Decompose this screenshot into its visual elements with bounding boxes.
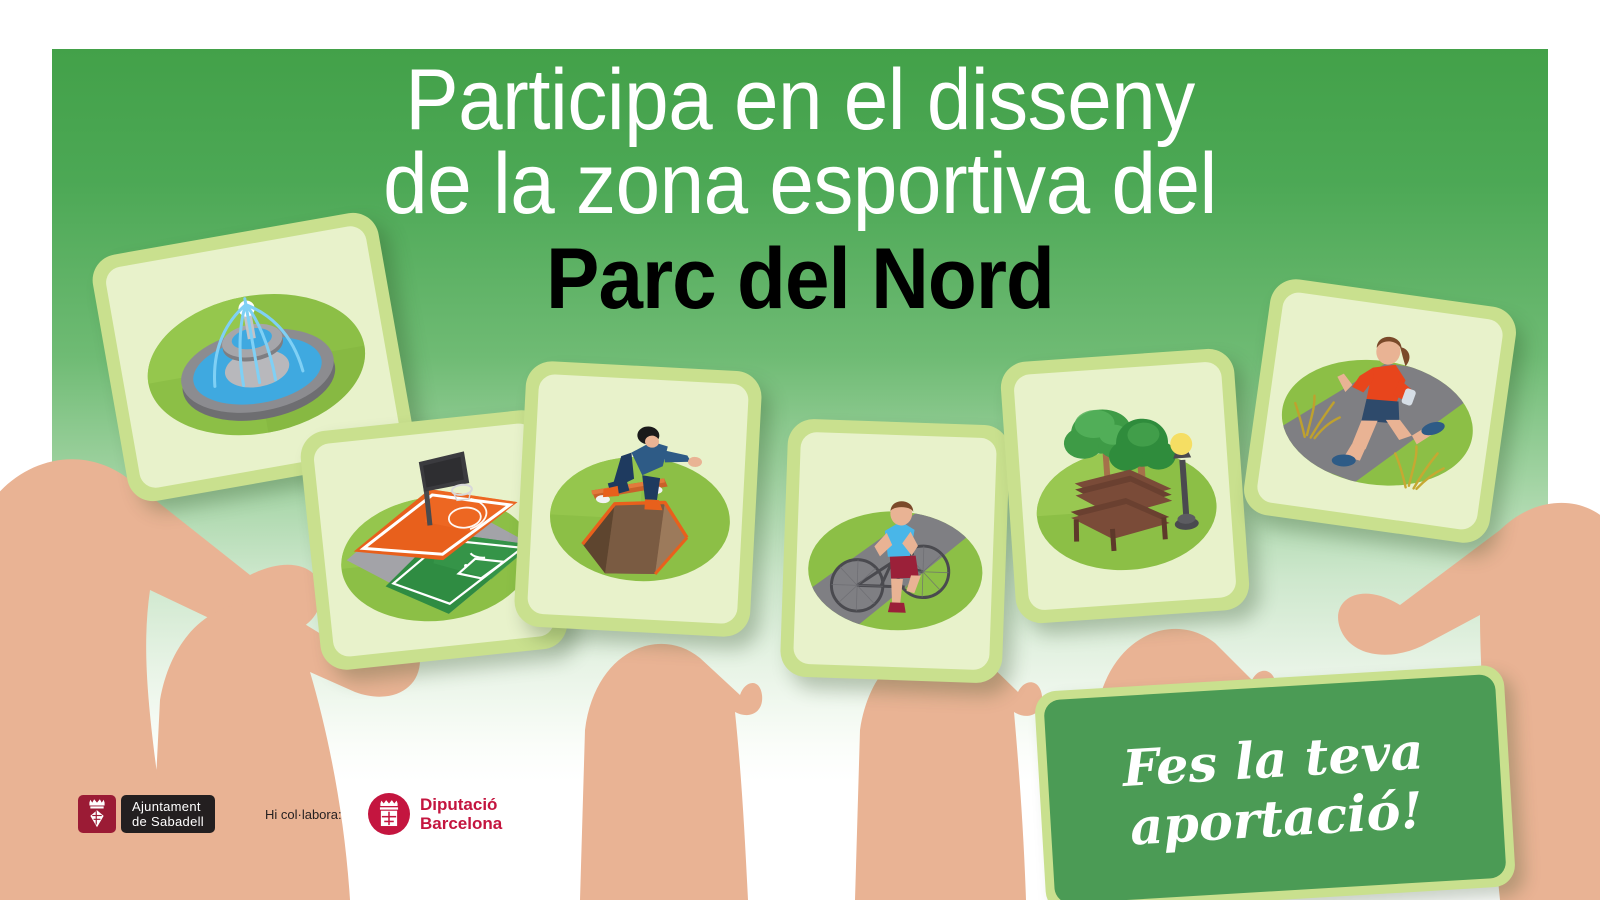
banner-canvas: Participa en el disseny de la zona espor… xyxy=(0,0,1600,900)
skateboard-ramp-icon xyxy=(527,374,749,625)
diputacio-name: Diputació Barcelona xyxy=(420,795,502,833)
card-bench-park-face xyxy=(1013,361,1237,611)
logo-ajuntament-sabadell[interactable]: Ajuntament de Sabadell xyxy=(78,795,215,833)
sabadell-line-1: Ajuntament xyxy=(132,799,204,814)
card-skate-ramp-face xyxy=(527,374,749,625)
diputacio-crest-icon xyxy=(368,793,410,835)
logo-diputacio-barcelona[interactable]: Diputació Barcelona xyxy=(368,792,502,836)
runner-icon xyxy=(1255,291,1504,532)
sabadell-line-2: de Sabadell xyxy=(132,814,204,829)
cta-callout[interactable]: Fes la teva aportació! xyxy=(1034,664,1516,900)
sabadell-name-box: Ajuntament de Sabadell xyxy=(121,795,215,833)
cyclist-icon xyxy=(793,432,997,671)
hand-3 xyxy=(580,644,762,900)
diputacio-line-1: Diputació xyxy=(420,795,502,814)
diputacio-line-2: Barcelona xyxy=(420,814,502,833)
cta-callout-inner: Fes la teva aportació! xyxy=(1043,674,1506,900)
card-bench-park[interactable] xyxy=(999,347,1251,625)
card-running[interactable] xyxy=(1241,276,1520,546)
card-cycling[interactable] xyxy=(780,418,1011,684)
footer-logos: Ajuntament de Sabadell Hi col·labora: xyxy=(0,790,1600,850)
park-bench-icon xyxy=(1013,361,1237,611)
collaborator-label: Hi col·labora: xyxy=(265,807,342,822)
card-skate-ramp[interactable] xyxy=(513,360,763,638)
card-running-face xyxy=(1255,291,1504,532)
card-cycling-face xyxy=(793,432,997,671)
sabadell-crest-icon xyxy=(78,795,116,833)
